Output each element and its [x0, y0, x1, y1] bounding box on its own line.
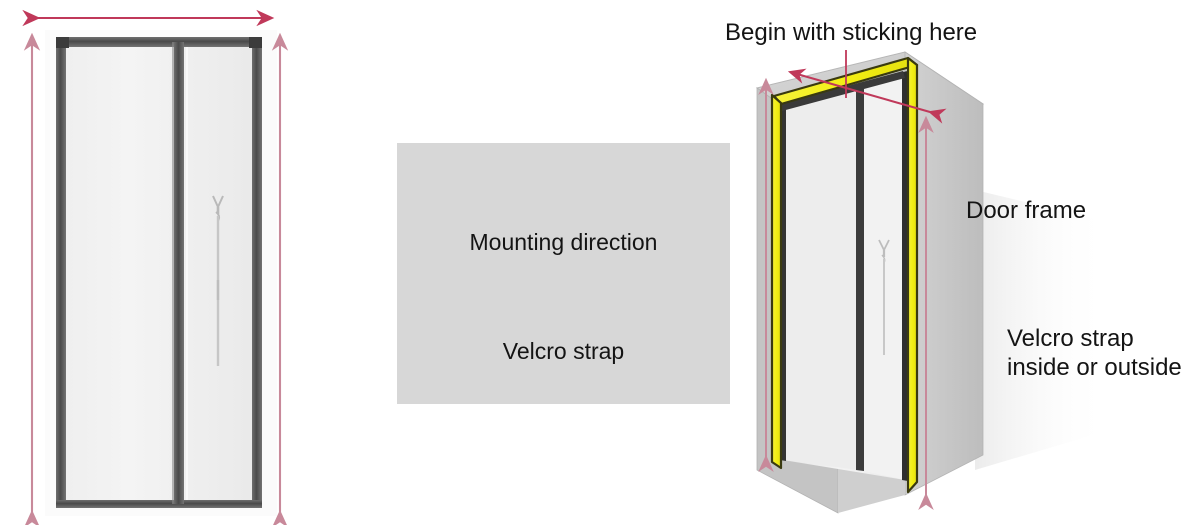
front-view-frame-bottom — [56, 500, 262, 508]
perspective-screen-mesh — [780, 71, 908, 481]
begin-sticking-here-label: Begin with sticking here — [725, 18, 977, 47]
front-view-frame-top — [56, 37, 262, 47]
front-view-frame-left — [56, 37, 66, 508]
front-view-mesh — [56, 37, 262, 508]
perspective-center-seam — [856, 83, 864, 471]
installation-diagram-page: Begin with sticking here Door frame Velc… — [0, 0, 1183, 525]
door-frame-label: Door frame — [966, 196, 1086, 225]
perspective-mesh-left — [783, 84, 858, 470]
legend-velcro-strap-label: Velcro strap — [397, 337, 730, 366]
velcro-placement-label-line2: inside or outside — [1007, 353, 1182, 382]
front-view-door — [56, 37, 262, 508]
velcro-strap-left — [772, 95, 781, 468]
velcro-placement-label-line1: Velcro strap — [1007, 324, 1134, 353]
legend-mounting-direction-label: Mounting direction — [397, 228, 730, 257]
front-view-center-seam — [174, 42, 184, 504]
front-view-frame-right — [252, 37, 262, 508]
velcro-strap-right — [908, 58, 917, 492]
